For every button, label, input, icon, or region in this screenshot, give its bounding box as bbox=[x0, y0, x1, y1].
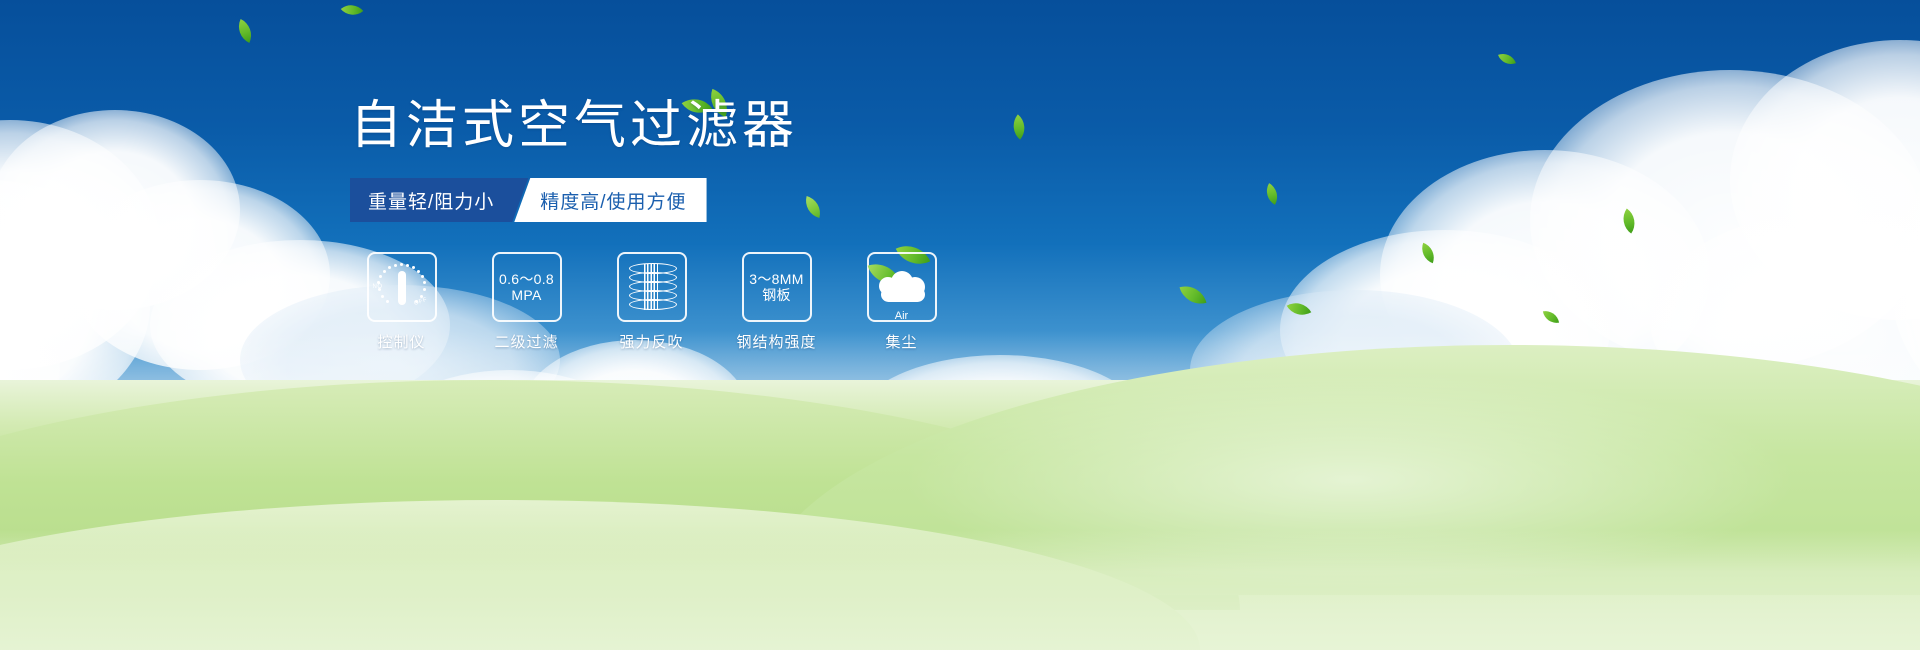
feature-item: 强力反吹 bbox=[600, 252, 703, 352]
pressure-unit: MPA bbox=[511, 287, 541, 303]
feature-icon-box bbox=[617, 252, 687, 322]
hero-banner: 自洁式空气过滤器 重量轻/阻力小 精度高/使用方便 bbox=[0, 0, 1920, 650]
feature-icon-box: NO OFF bbox=[367, 252, 437, 322]
gauge-label-no: NO bbox=[373, 284, 383, 290]
ribbon-primary: 重量轻/阻力小 bbox=[350, 178, 528, 222]
steel-material: 钢板 bbox=[762, 287, 791, 303]
feature-caption: 集尘 bbox=[850, 331, 953, 352]
feature-caption: 钢结构强度 bbox=[725, 331, 828, 352]
grass-highlight bbox=[900, 370, 1800, 590]
feature-item: NO OFF 控制仪 bbox=[350, 252, 453, 352]
air-cloud-icon: Air bbox=[875, 265, 929, 309]
gauge-needle bbox=[398, 271, 406, 305]
feature-caption: 控制仪 bbox=[350, 331, 453, 352]
steel-thickness: 3～8MM bbox=[749, 271, 803, 287]
grass-field bbox=[0, 380, 1920, 650]
feature-caption: 强力反吹 bbox=[600, 331, 703, 352]
feature-icon-box: Air bbox=[867, 252, 937, 322]
feature-item: 0.6～0.8 MPA 二级过滤 bbox=[475, 252, 578, 352]
feature-caption: 二级过滤 bbox=[475, 331, 578, 352]
banner-content: 自洁式空气过滤器 重量轻/阻力小 精度高/使用方便 bbox=[350, 100, 1070, 352]
ribbon-group: 重量轻/阻力小 精度高/使用方便 bbox=[350, 178, 707, 222]
filter-coil-icon bbox=[629, 262, 675, 312]
ribbon-secondary: 精度高/使用方便 bbox=[514, 178, 706, 222]
feature-list: NO OFF 控制仪 0.6～0.8 MPA 二级过滤 bbox=[350, 252, 1070, 352]
air-label: Air bbox=[875, 310, 929, 322]
gauge-label-off: OFF bbox=[413, 297, 428, 307]
page-title: 自洁式空气过滤器 bbox=[350, 100, 1070, 152]
pressure-value: 0.6～0.8 bbox=[499, 271, 554, 287]
gauge-icon: NO OFF bbox=[374, 262, 430, 312]
feature-item: Air 集尘 bbox=[850, 252, 953, 352]
feature-item: 3～8MM 钢板 钢结构强度 bbox=[725, 252, 828, 352]
feature-icon-box: 3～8MM 钢板 bbox=[742, 252, 812, 322]
feature-icon-box: 0.6～0.8 MPA bbox=[492, 252, 562, 322]
